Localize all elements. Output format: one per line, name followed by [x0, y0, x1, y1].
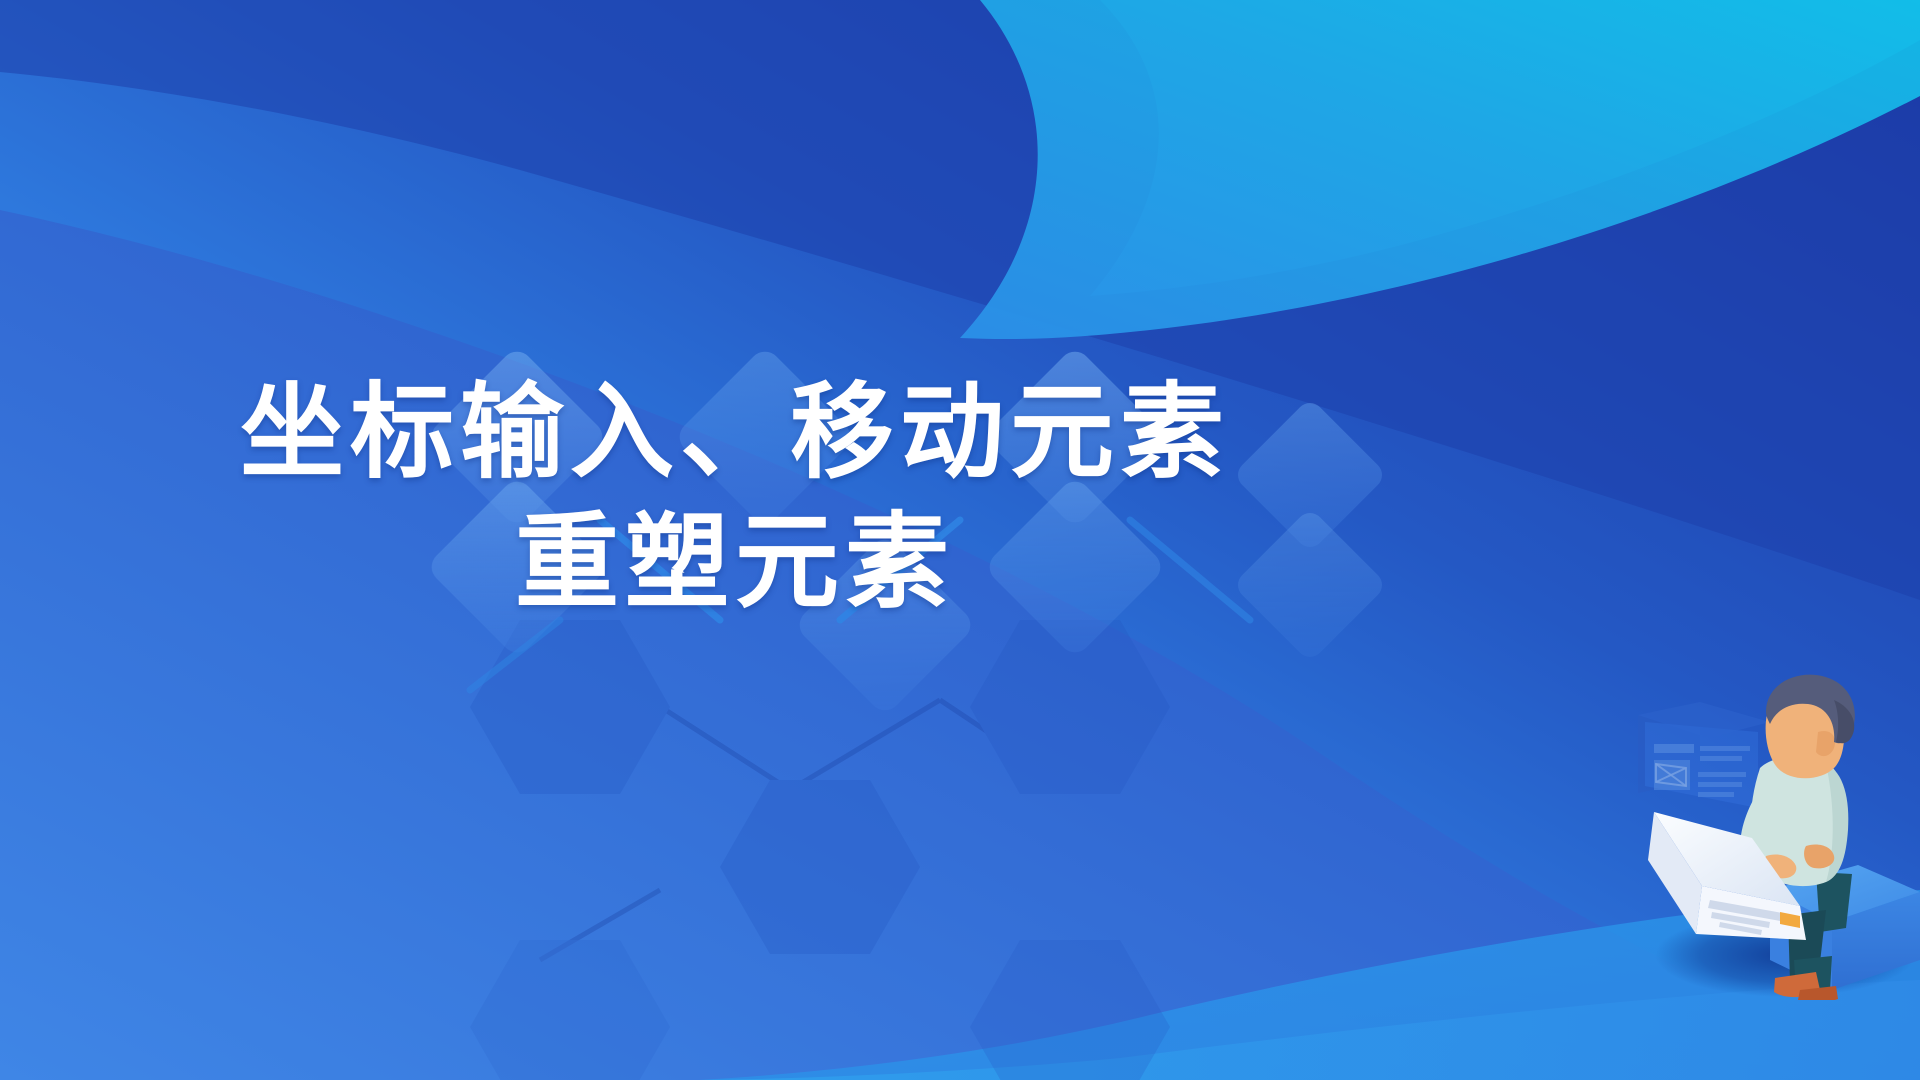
- title-line-1: 坐标输入、移动元素: [0, 368, 1470, 498]
- floating-screen-icon: [1638, 702, 1770, 808]
- head: [1766, 675, 1855, 779]
- person-with-laptop-illustration: [1620, 660, 1920, 1000]
- title-line-2: 重塑元素: [0, 498, 1470, 628]
- slide-title: 坐标输入、移动元素 重塑元素: [0, 368, 1470, 628]
- slide-canvas: 坐标输入、移动元素 重塑元素: [0, 0, 1920, 1080]
